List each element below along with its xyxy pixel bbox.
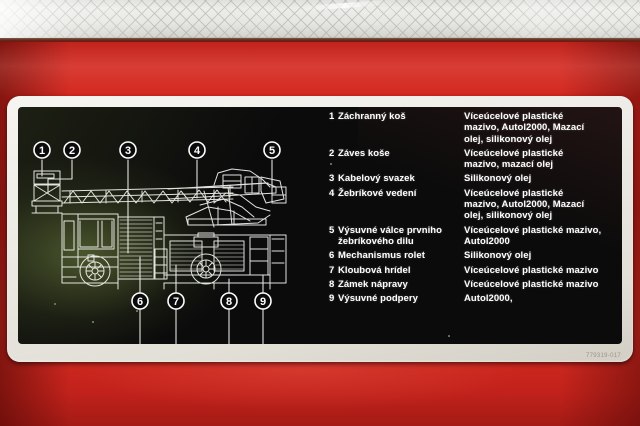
aerial-ladder-truck-diagram: 1 2 3 4 5 6 xyxy=(18,107,318,344)
legend-item-9-index: 9 xyxy=(329,293,338,304)
legend-item-4-index: 4 xyxy=(329,188,338,199)
legend-item-8-name: 8Zámek nápravy xyxy=(329,279,464,290)
legend-item-name-cell: 6Mechanismus rolet xyxy=(318,250,464,261)
legend-item-5-value-line-2: Autol2000 xyxy=(464,236,622,247)
legend-item-5-name: 5Výsuvné válce prvniho xyxy=(329,225,464,236)
legend-item-6-name: 6Mechanismus rolet xyxy=(329,250,464,261)
legend-item-7-value-line-1: Víceúcelové plastické mazivo xyxy=(464,265,622,276)
lubrication-label-plate: 1 2 3 4 5 6 xyxy=(7,96,633,362)
legend-item-4-value-line-3: olej, silikonový olej xyxy=(464,210,622,221)
legend-item-1-value-line-2: mazivo, Autol2000, Mazací xyxy=(464,122,622,133)
label-black-field: 1 2 3 4 5 6 xyxy=(18,107,622,344)
legend-item-value-cell: Víceúcelové plastické mazivo, Autol2000,… xyxy=(464,188,622,222)
legend-item-8-index: 8 xyxy=(329,279,338,290)
legend-item-name-cell: 9Výsuvné podpery xyxy=(318,293,464,304)
legend-item-1-value-line-3: olej, silikonový olej xyxy=(464,134,622,145)
legend-item-name-cell: 3Kabelový svazek xyxy=(318,173,464,184)
lubrication-legend-table: 1Záchranný koš Víceúcelové plastické maz… xyxy=(318,111,622,307)
turntable-upper-works-drawing xyxy=(186,169,286,227)
legend-row: 2Záves koše Víceúcelové plastické mazivo… xyxy=(318,148,622,171)
legend-item-5-value-line-1: Víceúcelové plastické mazivo, xyxy=(464,225,622,236)
legend-row: 5Výsuvné válce prvniho žebríkového dilu … xyxy=(318,225,622,248)
tape-lower-edge xyxy=(0,38,640,42)
legend-item-1-index: 1 xyxy=(329,111,338,122)
legend-item-1-name: 1Záchranný koš xyxy=(329,111,464,122)
legend-item-9-value-line-1: Autol2000, xyxy=(464,293,622,304)
legend-item-value-cell: Víceúcelové plastické mazivo xyxy=(464,265,622,276)
legend-row: 7Kloubová hrídel Víceúcelové plastické m… xyxy=(318,265,622,276)
callout-1-label: 1 xyxy=(39,145,45,157)
callout-2-label: 2 xyxy=(69,145,75,157)
callout-9-label: 9 xyxy=(260,296,266,308)
legend-item-2-name: 2Záves koše xyxy=(329,148,464,159)
legend-item-9-name: 9Výsuvné podpery xyxy=(329,293,464,304)
reflective-tape-strip xyxy=(0,0,640,38)
legend-item-name-cell: 4Žebríkové vedení xyxy=(318,188,464,222)
legend-row: 9Výsuvné podpery Autol2000, xyxy=(318,293,622,304)
legend-item-2-value-line-2: mazivo, mazací olej xyxy=(464,159,622,170)
legend-item-4-name: 4Žebríkové vedení xyxy=(329,188,464,199)
legend-item-6-index: 6 xyxy=(329,250,338,261)
legend-item-name-cell: 8Zámek nápravy xyxy=(318,279,464,290)
legend-item-5-index: 5 xyxy=(329,225,338,236)
plate-part-number: 779319-017 xyxy=(586,353,621,359)
legend-item-value-cell: Autol2000, xyxy=(464,293,622,304)
legend-item-6-value-line-1: Silikonový olej xyxy=(464,250,622,261)
legend-item-value-cell: Víceúcelové plastické mazivo, Autol2000,… xyxy=(464,111,622,145)
callout-7-label: 7 xyxy=(173,296,179,308)
legend-item-name-cell: 5Výsuvné válce prvniho žebríkového dilu xyxy=(318,225,464,248)
dust-speck xyxy=(448,335,450,337)
legend-item-value-cell: Víceúcelové plastické mazivo, mazací ole… xyxy=(464,148,622,171)
legend-item-8-value-line-1: Víceúcelové plastické mazivo xyxy=(464,279,622,290)
callout-5-label: 5 xyxy=(269,145,275,157)
legend-item-3-index: 3 xyxy=(329,173,338,184)
legend-item-3-value-line-1: Silikonový olej xyxy=(464,173,622,184)
legend-row: 4Žebríkové vedení Víceúcelové plastické … xyxy=(318,188,622,222)
callout-3-label: 3 xyxy=(125,145,131,157)
legend-item-7-name: 7Kloubová hrídel xyxy=(329,265,464,276)
legend-row: 8Zámek nápravy Víceúcelové plastické maz… xyxy=(318,279,622,290)
body-highlight-lower xyxy=(0,362,640,426)
legend-row: 3Kabelový svazek Silikonový olej xyxy=(318,173,622,184)
legend-item-name-cell: 1Záchranný koš xyxy=(318,111,464,145)
legend-item-5-name-line-2: žebríkového dilu xyxy=(329,236,464,247)
legend-item-2-index: 2 xyxy=(329,148,338,159)
callout-4-label: 4 xyxy=(194,145,201,157)
legend-item-value-cell: Silikonový olej xyxy=(464,173,622,184)
legend-item-value-cell: Víceúcelové plastické mazivo xyxy=(464,279,622,290)
legend-item-4-value-line-2: mazivo, Autol2000, Mazací xyxy=(464,199,622,210)
body-highlight-upper xyxy=(0,40,640,98)
callout-8-label: 8 xyxy=(226,296,232,308)
rescue-cage-drawing xyxy=(32,171,62,213)
legend-row: 6Mechanismus rolet Silikonový olej xyxy=(318,250,622,261)
legend-item-2-value-line-1: Víceúcelové plastické xyxy=(464,148,622,159)
photo-scene: 1 2 3 4 5 6 xyxy=(0,0,640,426)
legend-row: 1Záchranný koš Víceúcelové plastické maz… xyxy=(318,111,622,145)
legend-item-4-value-line-1: Víceúcelové plastické xyxy=(464,188,622,199)
legend-item-name-cell: 7Kloubová hrídel xyxy=(318,265,464,276)
legend-item-name-cell: 2Záves koše xyxy=(318,148,464,171)
legend-item-7-index: 7 xyxy=(329,265,338,276)
legend-item-1-value-line-1: Víceúcelové plastické xyxy=(464,111,622,122)
legend-item-3-name: 3Kabelový svazek xyxy=(329,173,464,184)
legend-item-value-cell: Víceúcelové plastické mazivo, Autol2000 xyxy=(464,225,622,248)
legend-item-value-cell: Silikonový olej xyxy=(464,250,622,261)
callout-6-label: 6 xyxy=(137,296,143,308)
ladder-boom-drawing xyxy=(62,183,276,203)
